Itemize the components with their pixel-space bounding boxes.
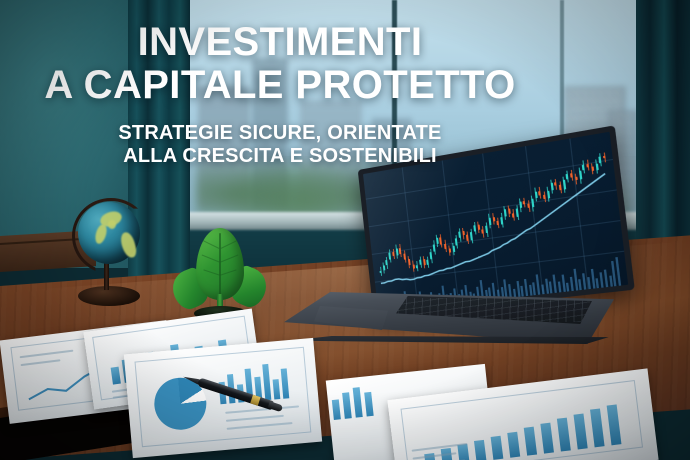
volume-bar <box>524 278 528 296</box>
volume-bar <box>579 280 583 291</box>
report-bar <box>262 364 271 400</box>
report-bar <box>281 368 290 399</box>
globe-stem <box>104 262 109 290</box>
leaf-sculpture <box>172 228 268 322</box>
volume-bar <box>596 279 599 289</box>
globe-continent <box>93 223 108 245</box>
report-bar <box>111 367 121 385</box>
report-bar <box>353 387 363 417</box>
volume-bar <box>513 289 516 297</box>
report-bar <box>507 431 520 457</box>
volume-bar <box>504 279 508 298</box>
report-bar <box>364 392 373 416</box>
volume-bar <box>545 279 549 294</box>
volume-bar <box>533 282 537 295</box>
volume-bar <box>609 275 613 287</box>
volume-bar <box>600 272 604 287</box>
report-bar <box>273 379 281 399</box>
volume-bar <box>549 281 553 293</box>
report-bar <box>474 440 486 460</box>
volume-bar <box>536 274 541 295</box>
volume-bar <box>521 285 524 296</box>
volume-bar <box>604 269 609 287</box>
laptop <box>278 168 628 348</box>
volume-bar <box>553 274 557 293</box>
laptop-base-edge <box>286 336 612 344</box>
report-center-pie <box>124 338 322 458</box>
report-bar <box>332 399 341 420</box>
volume-bar <box>516 281 520 297</box>
leaf-midvein <box>219 233 221 299</box>
volume-bar <box>573 269 578 291</box>
volume-bar <box>582 273 586 289</box>
volume-bar <box>541 285 544 294</box>
subtitle-line-2: ALLA CRESCITA E SOSTENIBILI <box>0 145 560 169</box>
title-line-1: INVESTIMENTI <box>0 22 560 63</box>
volume-bar <box>570 277 574 291</box>
globe-continent <box>119 231 138 259</box>
volume-bar <box>508 284 512 298</box>
banner-text: INVESTIMENTI A CAPITALE PROTETTO STRATEG… <box>0 22 560 169</box>
globe-continent <box>108 220 116 229</box>
globe-base <box>78 286 140 306</box>
report-bar <box>557 418 571 452</box>
desk-globe <box>70 196 148 312</box>
subtitle-line-1: STRATEGIE SICURE, ORIENTATE <box>0 122 560 146</box>
volume-bar <box>587 277 591 289</box>
volume-bar <box>529 285 532 295</box>
report-bar <box>457 444 469 460</box>
report-bar-chart <box>330 380 393 420</box>
volume-bar <box>558 281 562 292</box>
report-bar <box>491 436 504 460</box>
volume-bar <box>566 283 569 292</box>
report-bar <box>540 422 554 453</box>
volume-bar <box>590 269 595 289</box>
promotional-banner: INVESTIMENTI A CAPITALE PROTETTO STRATEG… <box>0 0 690 460</box>
report-bar <box>574 414 588 450</box>
report-bar <box>524 427 537 456</box>
title-line-2: A CAPITALE PROTETTO <box>0 65 560 106</box>
report-bar <box>590 409 605 448</box>
report-bar <box>607 404 622 445</box>
report-bar <box>342 392 352 418</box>
volume-bar <box>561 275 565 292</box>
